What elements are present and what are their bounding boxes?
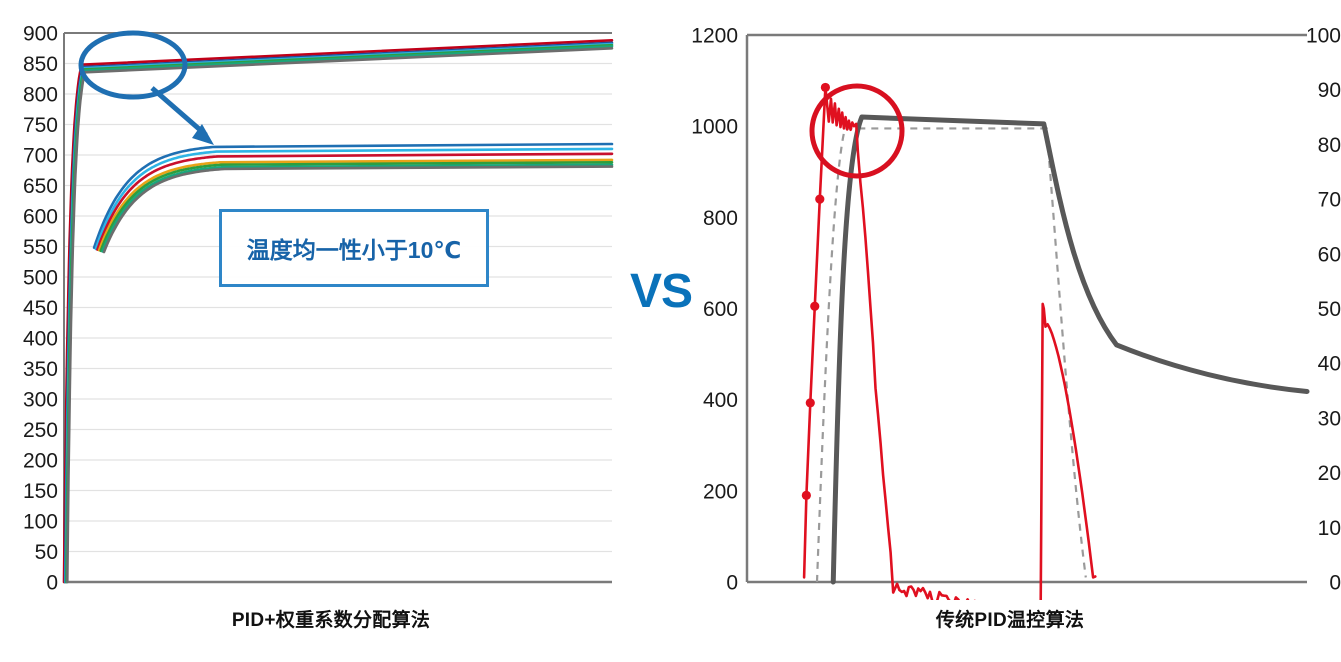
y-tick-label: 50 xyxy=(35,541,58,564)
y-tick-label: 850 xyxy=(23,53,58,76)
right-line-chart: 020040060080010001200 010203040506070809… xyxy=(679,0,1341,600)
y-tick-label: 250 xyxy=(23,419,58,442)
right-series-group xyxy=(802,83,1307,600)
data-point-marker xyxy=(806,398,815,407)
series-line-upper-gray xyxy=(67,48,612,582)
y-tick-label: 800 xyxy=(703,207,738,230)
series-line-upper-teal xyxy=(67,46,612,582)
y-tick-label: 100 xyxy=(23,511,58,534)
y-tick-label: 300 xyxy=(23,389,58,412)
y-tick-label: 600 xyxy=(23,206,58,229)
y-tick-label: 150 xyxy=(23,480,58,503)
y-tick-label: 750 xyxy=(23,114,58,137)
y2-tick-label: 90 xyxy=(1318,79,1341,102)
right-y-axis-ticks: 020040060080010001200 xyxy=(691,25,738,595)
left-y-axis-ticks: 0501001502002503003504004505005506006507… xyxy=(23,23,58,595)
right-chart-panel: 020040060080010001200 010203040506070809… xyxy=(679,0,1341,662)
y-tick-label: 0 xyxy=(46,572,58,595)
left-gridlines xyxy=(64,33,612,552)
y2-tick-label: 100 xyxy=(1306,25,1341,48)
left-line-chart: 0501001502002503003504004505005506006507… xyxy=(0,0,662,600)
y-tick-label: 650 xyxy=(23,175,58,198)
y-tick-label: 600 xyxy=(703,298,738,321)
y-tick-label: 500 xyxy=(23,267,58,290)
left-chart-panel: 0501001502002503003504004505005506006507… xyxy=(0,0,662,662)
y-tick-label: 0 xyxy=(726,572,738,595)
data-point-marker xyxy=(810,302,819,311)
y2-tick-label: 0 xyxy=(1329,572,1341,595)
y-tick-label: 1000 xyxy=(691,116,738,139)
y2-tick-label: 20 xyxy=(1318,462,1341,485)
uniformity-annotation-box: 温度均一性小于10℃ xyxy=(219,209,489,287)
y-tick-label: 450 xyxy=(23,297,58,320)
y-tick-label: 350 xyxy=(23,358,58,381)
y-tick-label: 200 xyxy=(23,450,58,473)
uniformity-annotation-label: 温度均一性小于10℃ xyxy=(247,231,461,265)
comparison-figure: 0501001502002503003504004505005506006507… xyxy=(0,0,1341,662)
series-line-upper-green xyxy=(66,45,612,582)
y-tick-label: 900 xyxy=(23,23,58,46)
y2-tick-label: 40 xyxy=(1318,353,1341,376)
y-tick-label: 550 xyxy=(23,236,58,259)
left-callout-annotation xyxy=(81,33,214,145)
data-point-marker xyxy=(815,195,824,204)
right-chart-caption: 传统PID温控算法 xyxy=(679,605,1341,632)
y2-tick-label: 70 xyxy=(1318,189,1341,212)
y2-tick-label: 10 xyxy=(1318,517,1341,540)
callout-arrow-line xyxy=(152,88,206,135)
left-series-group xyxy=(64,40,612,582)
y-tick-label: 1200 xyxy=(691,25,738,48)
y-tick-label: 400 xyxy=(703,389,738,412)
series-line-gray-dashed-reference xyxy=(817,128,1086,582)
series-line-upper-red xyxy=(64,40,612,582)
y-tick-label: 200 xyxy=(703,480,738,503)
data-point-marker xyxy=(821,83,830,92)
y2-tick-label: 50 xyxy=(1318,298,1341,321)
series-line-gray-setpoint xyxy=(833,117,1307,582)
y2-tick-label: 80 xyxy=(1318,134,1341,157)
y-tick-label: 800 xyxy=(23,84,58,107)
y-tick-label: 400 xyxy=(23,328,58,351)
right-secondary-axis-ticks: 0102030405060708090100 xyxy=(1306,25,1341,595)
y-tick-label: 700 xyxy=(23,145,58,168)
y2-tick-label: 30 xyxy=(1318,407,1341,430)
series-line-upper-darkblue xyxy=(65,43,612,582)
y2-tick-label: 60 xyxy=(1318,243,1341,266)
left-chart-caption: PID+权重系数分配算法 xyxy=(0,605,662,632)
data-point-marker xyxy=(802,491,811,500)
